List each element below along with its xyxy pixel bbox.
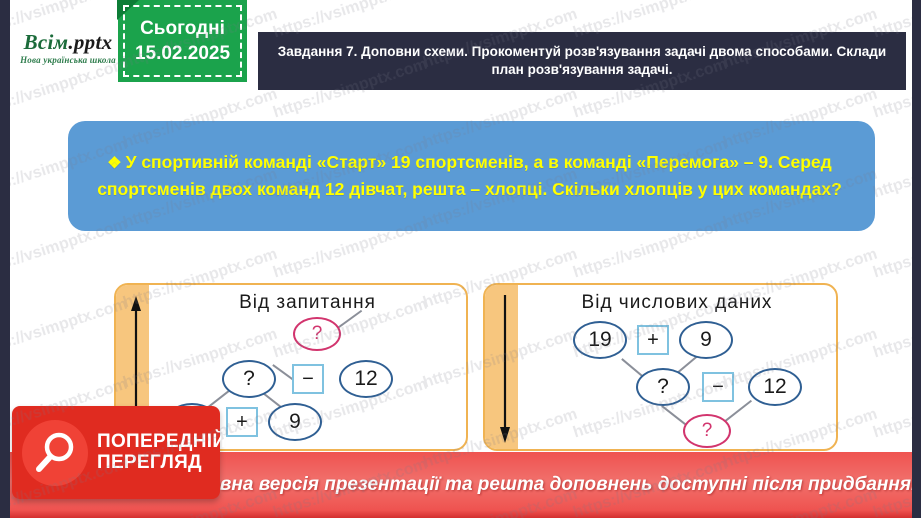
- node-value-12[interactable]: 12: [339, 360, 393, 398]
- problem-text-wrapper: ❖У спортивній команді «Старт» 19 спортсм…: [90, 149, 849, 202]
- scheme-panel-from-data: Від числових даних 19 + 9 ? − 12 ?: [483, 283, 838, 451]
- today-label: Сьогодні: [140, 19, 225, 38]
- diamond-bullet-icon: ❖: [107, 155, 121, 172]
- problem-text: У спортивній команді «Старт» 19 спортсме…: [97, 152, 842, 199]
- node-unknown-result[interactable]: ?: [293, 317, 341, 351]
- magnifier-icon: [22, 420, 88, 486]
- left-edge-strip: [0, 0, 10, 518]
- preview-line-1: ПОПЕРЕДНІЙ: [97, 432, 226, 453]
- site-logo: Всім.pptx Нова українська школа: [12, 32, 124, 78]
- task-header-bar: Завдання 7. Доповни схеми. Прокоментуй р…: [258, 32, 906, 90]
- node-unknown-result[interactable]: ?: [683, 414, 731, 448]
- preview-line-2: ПЕРЕГЛЯД: [97, 453, 226, 474]
- watermark-text: https://vsimpptx.com: [0, 296, 130, 363]
- preview-badge-label: ПОПЕРЕДНІЙ ПЕРЕГЛЯД: [97, 432, 226, 473]
- logo-suffix: .pptx: [68, 30, 112, 54]
- node-value-12[interactable]: 12: [748, 368, 802, 406]
- node-operator-plus[interactable]: +: [637, 325, 669, 355]
- slide: Всім.pptx Нова українська школа Сьогодні…: [0, 0, 921, 518]
- today-date: 15.02.2025: [135, 44, 230, 63]
- node-operator-minus[interactable]: −: [292, 364, 324, 394]
- today-badge: Сьогодні 15.02.2025: [118, 0, 247, 82]
- logo-name: Всім: [24, 30, 69, 54]
- scheme-right: 19 + 9 ? − 12 ?: [518, 285, 836, 449]
- logo-tagline: Нова українська школа: [12, 56, 124, 65]
- today-badge-inner: Сьогодні 15.02.2025: [123, 5, 242, 77]
- node-operator-minus[interactable]: −: [702, 372, 734, 402]
- arrow-down-icon: [493, 293, 517, 445]
- preview-badge: ПОПЕРЕДНІЙ ПЕРЕГЛЯД: [12, 406, 220, 499]
- task-text: Завдання 7. Доповни схеми. Прокоментуй р…: [268, 43, 896, 79]
- node-value-9[interactable]: 9: [268, 403, 322, 441]
- problem-statement-box: ❖У спортивній команді «Старт» 19 спортсм…: [68, 121, 875, 231]
- node-operator-plus[interactable]: +: [226, 407, 258, 437]
- right-edge-strip: [912, 0, 921, 518]
- node-value-19[interactable]: 19: [573, 321, 627, 359]
- logo-text: Всім.pptx: [12, 32, 124, 53]
- node-intermediate[interactable]: ?: [636, 368, 690, 406]
- node-value-9[interactable]: 9: [679, 321, 733, 359]
- node-intermediate[interactable]: ?: [222, 360, 276, 398]
